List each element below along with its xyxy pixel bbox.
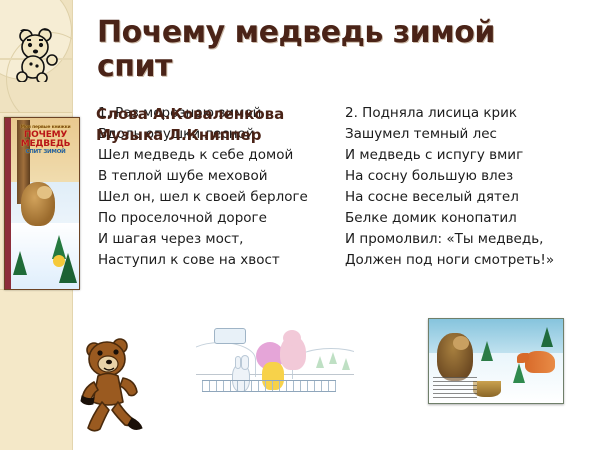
book-cover-lantern	[53, 255, 65, 267]
verse-line: И шагая через мост,	[98, 229, 313, 250]
illustration-bear	[437, 333, 473, 381]
book-cover-image: Мои первые книжки ПОЧЕМУ МЕДВЕДЬ СПИТ ЗИ…	[4, 117, 80, 290]
sidebar-bottom-panel	[0, 289, 72, 450]
drawing-fir-2	[329, 352, 337, 364]
verse-line: Должен под ноги смотреть!»	[345, 250, 595, 271]
book-cover-title-line4: СПИТ ЗИМОЙ	[14, 149, 77, 156]
lyrics-author: Слова А.Коваленкова	[96, 104, 396, 125]
presentation-slide: Мои первые книжки ПОЧЕМУ МЕДВЕДЬ СПИТ ЗИ…	[0, 0, 600, 450]
bear-cub-icon	[14, 22, 60, 82]
book-cover-fir-1	[13, 251, 27, 275]
illustration-fir-3	[513, 363, 525, 383]
verse-line: На сосну большую влез	[345, 166, 595, 187]
verse-line: Шел медведь к себе домой	[98, 145, 313, 166]
drawing-sled	[214, 328, 246, 344]
drawing-fir-1	[316, 356, 324, 368]
book-cover-title-line3: МЕДВЕДЬ	[14, 140, 77, 149]
illustration-fir-1	[481, 341, 493, 361]
drawing-fir-3	[342, 358, 350, 370]
slide-subtitle-credits: Слова А.Коваленкова Музыка Л.Книппер	[96, 104, 396, 146]
illustration-fox	[525, 351, 555, 373]
music-author: Музыка Л.Книппер	[96, 125, 396, 146]
verse-line: И промолвил: «Ты медведь,	[345, 229, 595, 250]
slide-title: Почему медведь зимой спит	[97, 16, 577, 84]
verse-line: Белке домик конопатил	[345, 208, 595, 229]
verse-line: По проселочной дороге	[98, 208, 313, 229]
verse-line: На сосне веселый дятел	[345, 187, 595, 208]
childrens-pencil-drawing	[196, 322, 354, 408]
verse-line: В теплой шубе меховой	[98, 166, 313, 187]
drawing-bridge	[202, 380, 336, 392]
verse-line: Шел он, шел к своей берлоге	[98, 187, 313, 208]
verse-line: Наступил к сове на хвост	[98, 250, 313, 271]
book-cover-title: Мои первые книжки ПОЧЕМУ МЕДВЕДЬ СПИТ ЗИ…	[14, 124, 77, 156]
walking-bear-icon	[78, 332, 152, 440]
illustration-caption-text	[433, 377, 477, 399]
illustration-basket	[473, 381, 501, 397]
book-cover-bear	[21, 182, 55, 226]
illustration-fir-2	[541, 327, 553, 347]
book-illustration-image	[428, 318, 564, 404]
verse-line: И медведь с испугу вмиг	[345, 145, 595, 166]
drawing-pig	[280, 336, 306, 370]
